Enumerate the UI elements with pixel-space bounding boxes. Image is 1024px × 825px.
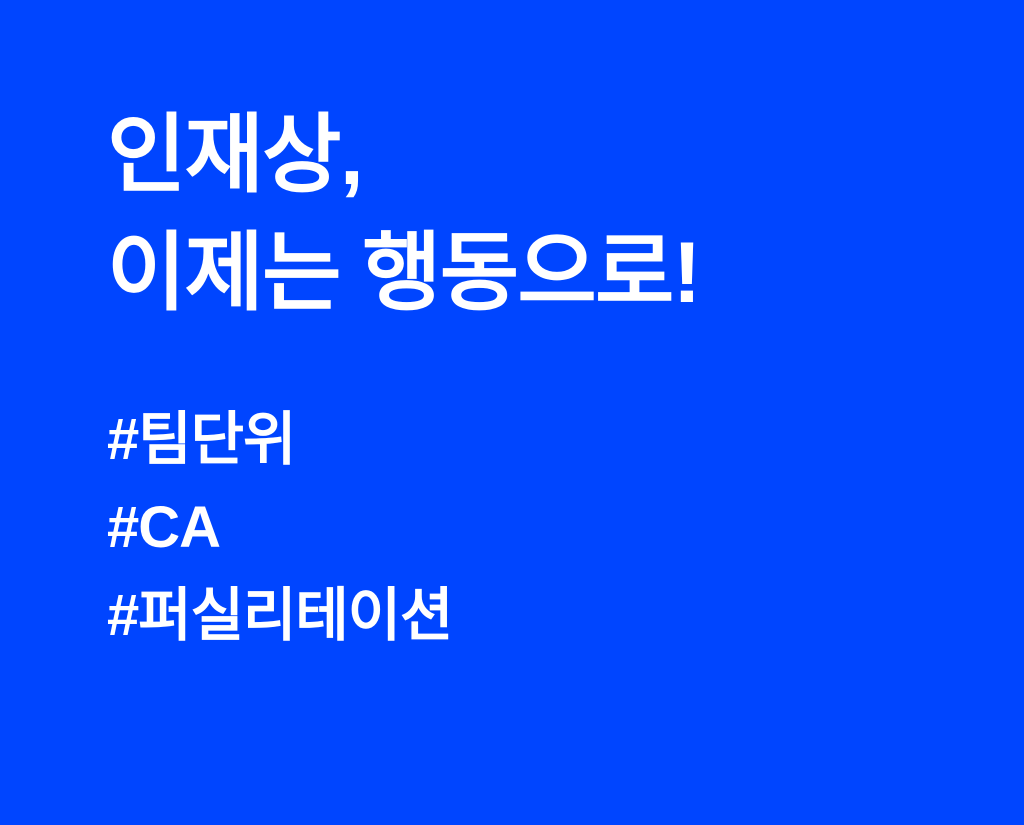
hashtag-item-1: #팀단위 xyxy=(107,396,967,484)
hashtag-item-3: #퍼실리테이션 xyxy=(107,572,967,660)
slide-canvas: 인재상, 이제는 행동으로! #팀단위 #CA #퍼실리테이션 xyxy=(0,0,1024,825)
headline-block: 인재상, 이제는 행동으로! xyxy=(107,96,967,332)
hashtag-item-2: #CA xyxy=(107,484,967,572)
headline-line-1: 인재상, xyxy=(107,96,967,214)
hashtag-list: #팀단위 #CA #퍼실리테이션 xyxy=(107,396,967,660)
headline-line-2: 이제는 행동으로! xyxy=(107,214,967,332)
page-title: 인재상, 이제는 행동으로! xyxy=(107,96,967,332)
